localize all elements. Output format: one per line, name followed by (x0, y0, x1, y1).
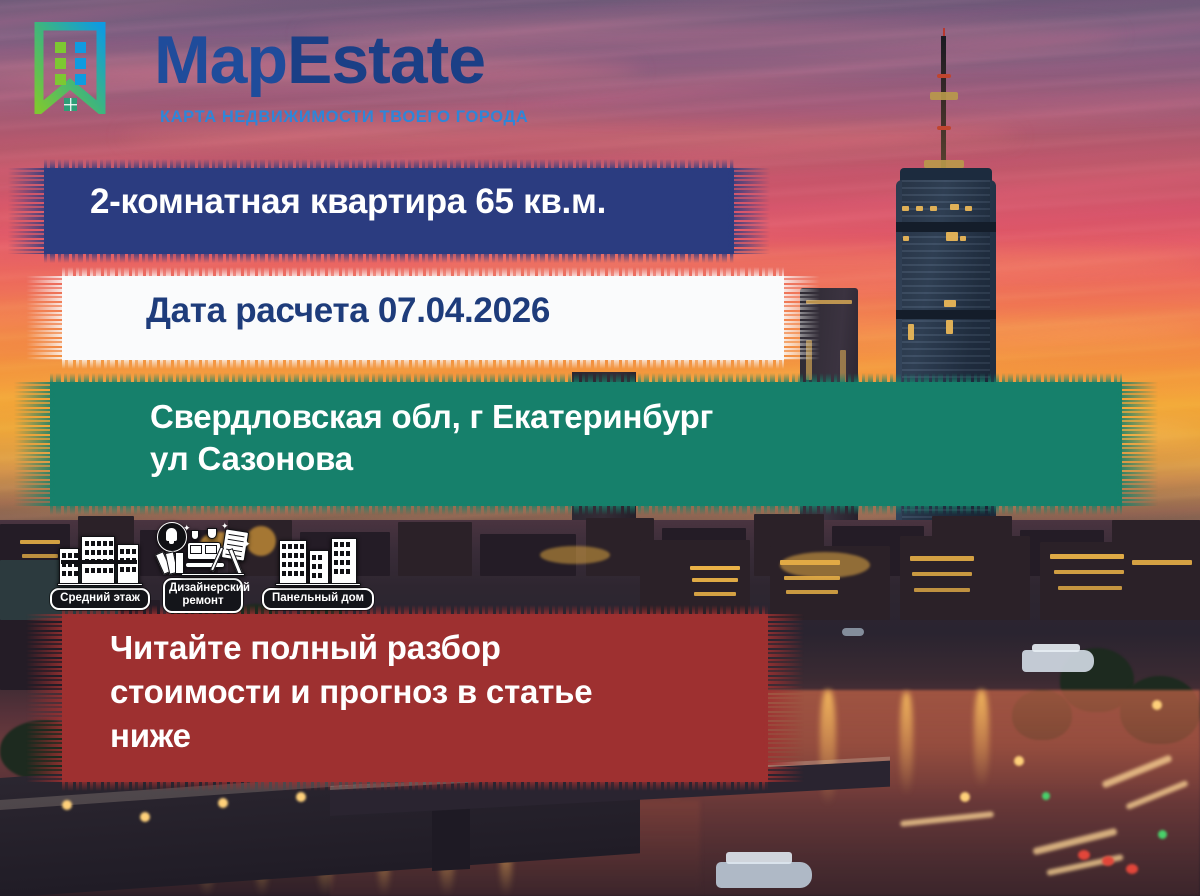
window-lights (690, 566, 740, 570)
calculation-date-text: Дата расчета 07.04.2026 (62, 276, 784, 331)
feature-badges: Средний этаж ✦ ✦ ✦ (40, 516, 370, 610)
tower-window-light (930, 206, 937, 211)
tower-window-light (965, 206, 972, 211)
brand-logo[interactable]: MapEstate КАРТА НЕДВИЖИМОСТИ ТВОЕГО ГОРО… (34, 22, 534, 122)
cta-banner[interactable]: Читайте полный разбор стоимости и прогно… (62, 614, 768, 782)
street-lamp (218, 798, 228, 808)
office-building-icon (57, 534, 143, 586)
tower-window-light (903, 236, 909, 241)
brand-tagline: КАРТА НЕДВИЖИМОСТИ ТВОЕГО ГОРОДА (160, 108, 528, 127)
boat-cabin (1032, 644, 1080, 652)
tower-window-light (946, 232, 958, 241)
badge-designer-remont: ✦ ✦ ✦ Дизайнерскийремонт (144, 522, 262, 613)
brand-name: MapEstate (154, 26, 485, 94)
design-tools-icon: ✦ ✦ ✦ (157, 522, 249, 576)
bridge-pier (432, 809, 470, 871)
street-lamp (296, 792, 306, 802)
address-banner: Свердловская обл, г Екатеринбург ул Сазо… (50, 382, 1122, 506)
brand-name-estate: Estate (287, 22, 485, 98)
tower-window-light (944, 300, 956, 307)
landmark-glow (780, 552, 870, 578)
panel-house-icon (275, 534, 361, 586)
cta-text: Читайте полный разбор стоимости и прогно… (62, 614, 768, 759)
address-line-1: Свердловская обл, г Екатеринбург (150, 396, 1122, 438)
badge-label-line2: ремонт (182, 595, 223, 607)
window-lights (1054, 570, 1124, 574)
badge-label: Панельный дом (262, 588, 374, 610)
badge-label-line1: Дизайнерский (169, 582, 250, 594)
tower-window-light (908, 324, 914, 340)
window-lights (912, 572, 972, 576)
mapestate-logo-icon (34, 22, 106, 114)
cloud-band (120, 126, 1020, 146)
brush-edge-bottom (50, 503, 1122, 515)
antenna-collar (924, 160, 964, 168)
cta-line-3: ниже (110, 714, 768, 758)
window-lights (910, 556, 974, 561)
tail-light (1102, 856, 1114, 866)
street-lamp (1014, 756, 1024, 766)
badge-label: Средний этаж (50, 588, 150, 610)
landmark-glow (540, 546, 610, 564)
boat-cabin (726, 852, 792, 864)
brush-edge-bottom (62, 357, 784, 369)
antenna-ring (937, 74, 951, 78)
brand-name-map: Map (154, 22, 287, 98)
address-text: Свердловская обл, г Екатеринбург ул Сазо… (50, 382, 1122, 480)
light-reflection (900, 692, 913, 796)
tower-band (896, 222, 996, 232)
window-lights (1050, 554, 1124, 559)
street-lamp (140, 812, 150, 822)
traffic-light-green (1158, 830, 1167, 839)
address-line-2: ул Сазонова (150, 438, 1122, 480)
tower-window-light (946, 320, 953, 334)
antenna-collar (930, 92, 958, 100)
city-building (900, 536, 1030, 620)
tower-window-light (902, 206, 909, 211)
cta-line-1: Читайте полный разбор (110, 626, 768, 670)
property-title-text: 2-комнатная квартира 65 кв.м. (44, 168, 734, 222)
window-lights (786, 590, 838, 594)
brush-edge-bottom (62, 779, 768, 791)
window-lights (1132, 560, 1192, 565)
river-boat (716, 862, 812, 888)
tower-window-light (960, 236, 966, 241)
street-lamp (960, 792, 970, 802)
cta-line-2: стоимости и прогноз в статье (110, 670, 768, 714)
light-reflection (974, 690, 989, 788)
window-lights (1058, 586, 1122, 590)
brush-edge-bottom (44, 251, 734, 263)
window-lights (694, 592, 736, 596)
street-lamp (1152, 700, 1162, 710)
street-lamp (62, 800, 72, 810)
antenna-ring (937, 126, 951, 130)
cloud-band (520, 96, 1200, 114)
badge-panelnyj-dom: Панельный дом (258, 534, 378, 610)
small-boat (842, 628, 864, 636)
badge-label: Дизайнерскийремонт (163, 578, 243, 613)
tail-light (1078, 850, 1090, 860)
window-lights (692, 578, 738, 582)
tower-window-light (916, 206, 923, 211)
tower-window-light (950, 204, 959, 210)
tower-band (896, 310, 996, 319)
traffic-light-green (1042, 792, 1050, 800)
antenna-mast (941, 36, 946, 176)
city-building (398, 522, 472, 576)
badge-srednij-etazh: Средний этаж (40, 534, 160, 610)
tail-light (1126, 864, 1138, 874)
promo-poster: MapEstate КАРТА НЕДВИЖИМОСТИ ТВОЕГО ГОРО… (0, 0, 1200, 896)
property-title-banner: 2-комнатная квартира 65 кв.м. (44, 168, 734, 254)
river-boat (1022, 650, 1094, 672)
window-lights (914, 588, 970, 592)
calculation-date-banner: Дата расчета 07.04.2026 (62, 276, 784, 360)
